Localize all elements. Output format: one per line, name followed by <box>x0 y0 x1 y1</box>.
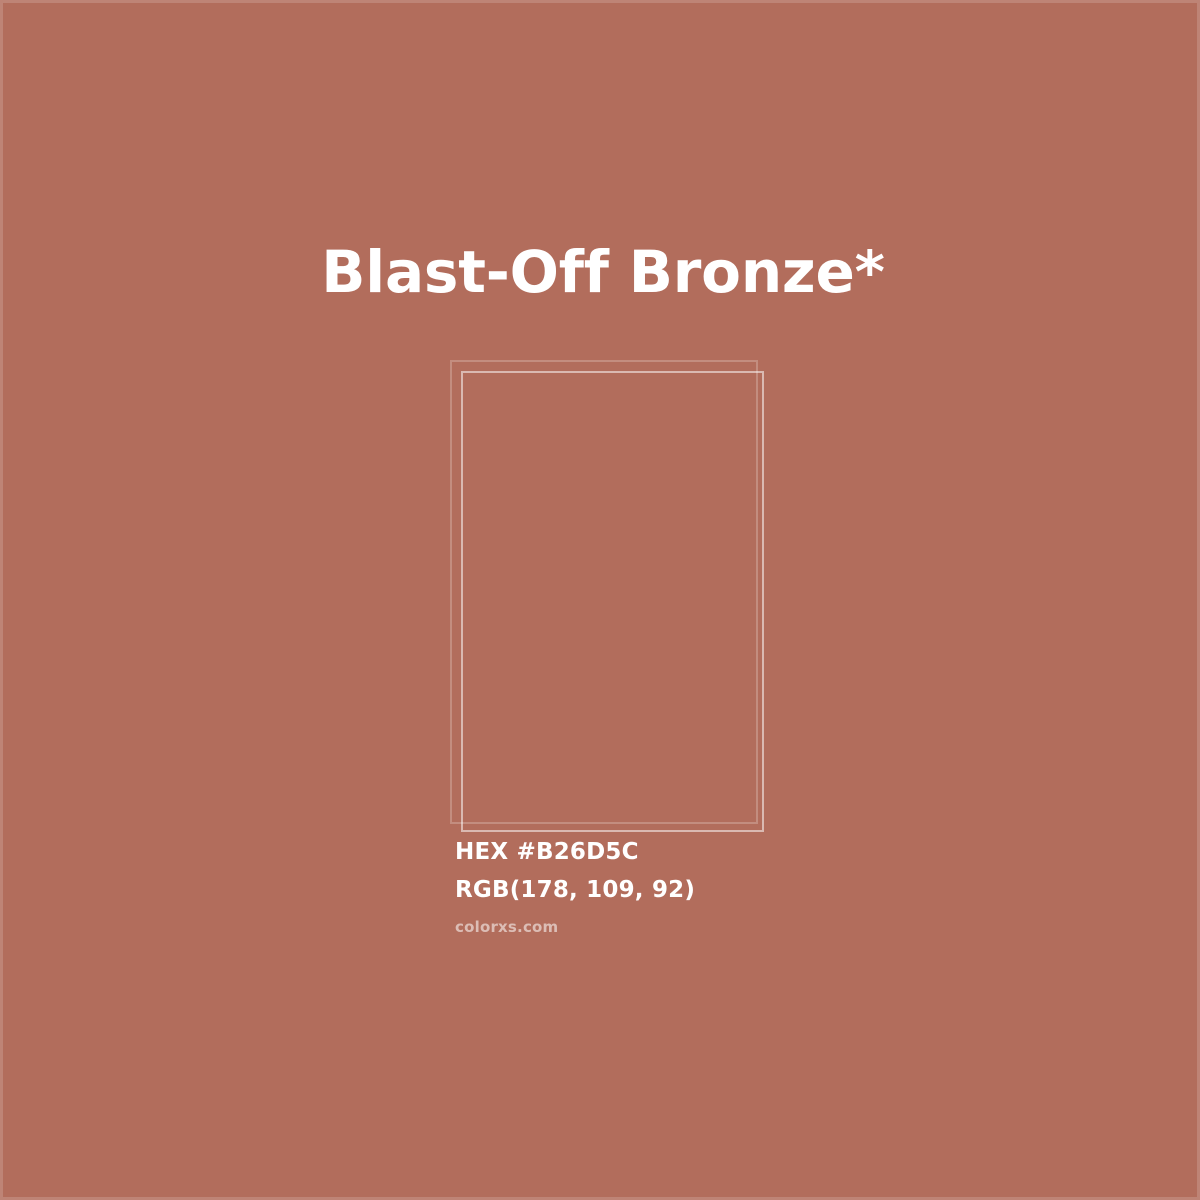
hex-value-label: HEX #B26D5C <box>455 836 1055 868</box>
color-swatch <box>450 360 765 834</box>
color-info-block: HEX #B26D5C RGB(178, 109, 92) colorxs.co… <box>455 836 1055 937</box>
rgb-value-label: RGB(178, 109, 92) <box>455 874 1055 906</box>
swatch-inner-frame <box>461 371 764 832</box>
source-website-label: colorxs.com <box>455 917 1055 937</box>
color-swatch-page: Blast-Off Bronze* HEX #B26D5C RGB(178, 1… <box>0 0 1200 1200</box>
page-title: Blast-Off Bronze* <box>3 236 1200 308</box>
